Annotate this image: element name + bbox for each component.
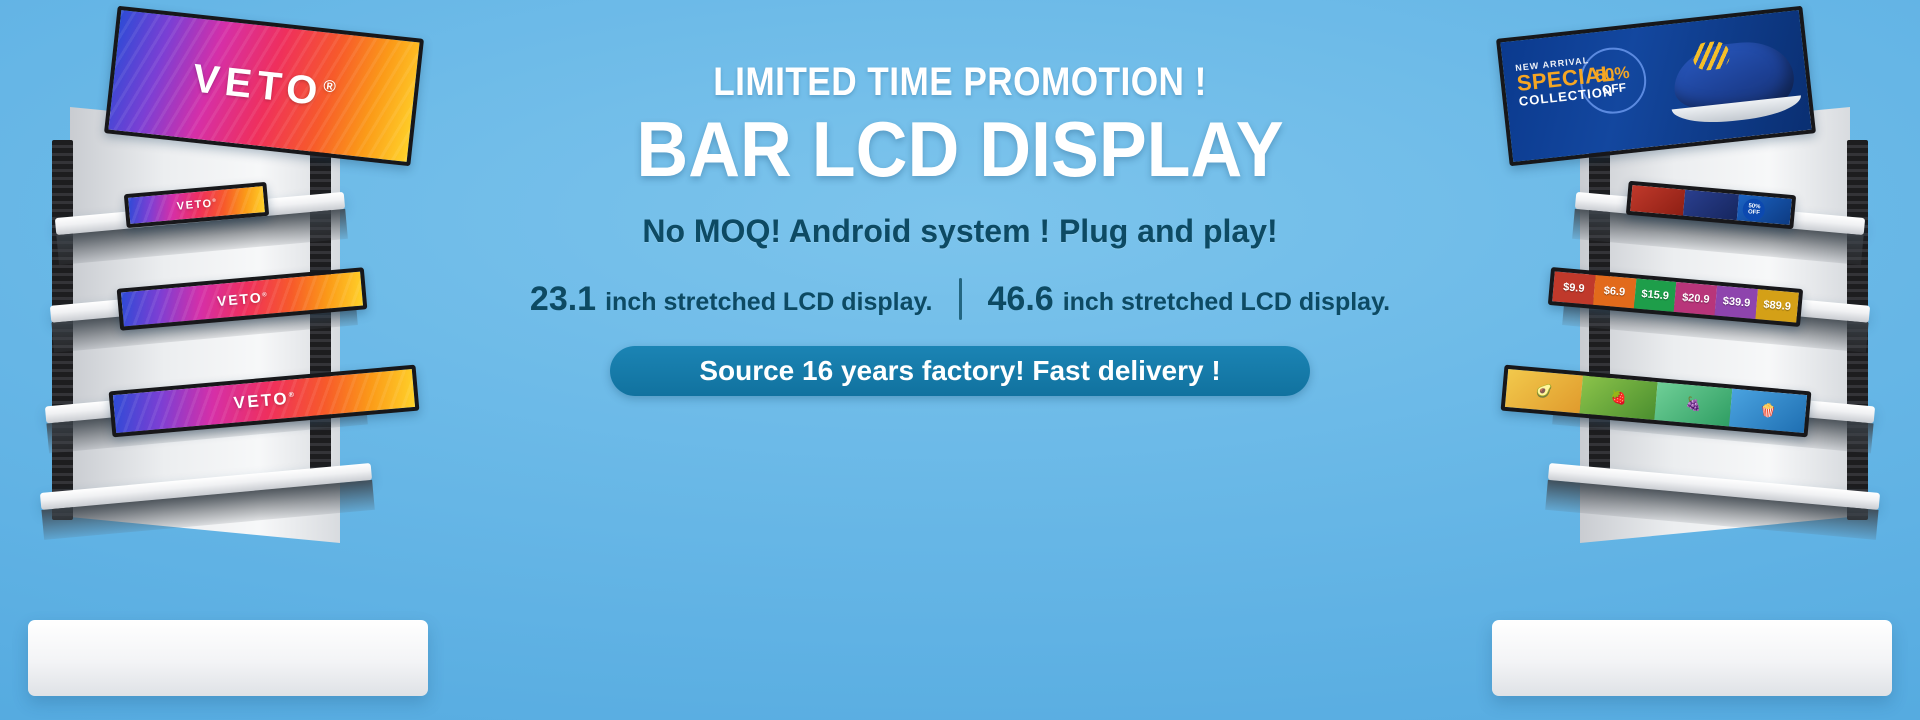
price-cell: $39.9 [1715, 286, 1758, 319]
spec-size-23: 23.1 [530, 280, 596, 319]
page-title: BAR LCD DISPLAY [500, 111, 1420, 187]
mini-seg-1 [1630, 185, 1685, 216]
center-copy-block: LIMITED TIME PROMOTION ! BAR LCD DISPLAY… [460, 60, 1460, 480]
subline-text: No MOQ! Android system ! Plug and play! [460, 213, 1460, 250]
spec-size-46: 46.6 [988, 280, 1054, 319]
registered-mark: ® [288, 391, 294, 399]
spec-divider [959, 278, 962, 320]
spec-item-46: 46.6 inch stretched LCD display. [962, 280, 1417, 319]
promotional-banner: VETO® VETO® VETO® VETO® LIMITED TIME PRO… [0, 0, 1920, 720]
spec-text-23: inch stretched LCD display. [605, 288, 932, 317]
registered-mark: ® [262, 292, 267, 298]
spec-text-46: inch stretched LCD display. [1063, 288, 1390, 317]
price-cell: $20.9 [1674, 282, 1717, 315]
food-cell: 🥑 [1505, 369, 1583, 413]
food-cell: 🍓 [1580, 376, 1658, 420]
kicker-text: LIMITED TIME PROMOTION ! [520, 60, 1400, 105]
food-cell: 🍿 [1729, 389, 1807, 433]
spec-item-23: 23.1 inch stretched LCD display. [504, 280, 959, 319]
price-cell: $9.9 [1552, 271, 1595, 304]
registered-mark: ® [212, 198, 216, 203]
left-unit-base [28, 620, 428, 696]
left-shelf-unit: VETO® VETO® VETO® VETO® [10, 0, 480, 720]
registered-mark: ® [323, 76, 337, 96]
mini-seg-2 [1683, 190, 1738, 221]
food-cell: 🍇 [1654, 382, 1732, 426]
mini-discount-label: OFF [1748, 209, 1760, 216]
right-unit-base [1492, 620, 1892, 696]
price-cell: $15.9 [1634, 278, 1677, 311]
price-cell: $89.9 [1756, 289, 1799, 322]
cta-button[interactable]: Source 16 years factory! Fast delivery ! [610, 346, 1310, 396]
spec-row: 23.1 inch stretched LCD display. 46.6 in… [460, 278, 1460, 320]
right-shelf-unit: 50% OFF NEW ARRIVAL SPECIAL COLLECTION 5… [1440, 0, 1910, 720]
veto-brand-text: VETO [233, 389, 290, 413]
price-cell: $6.9 [1593, 275, 1636, 308]
